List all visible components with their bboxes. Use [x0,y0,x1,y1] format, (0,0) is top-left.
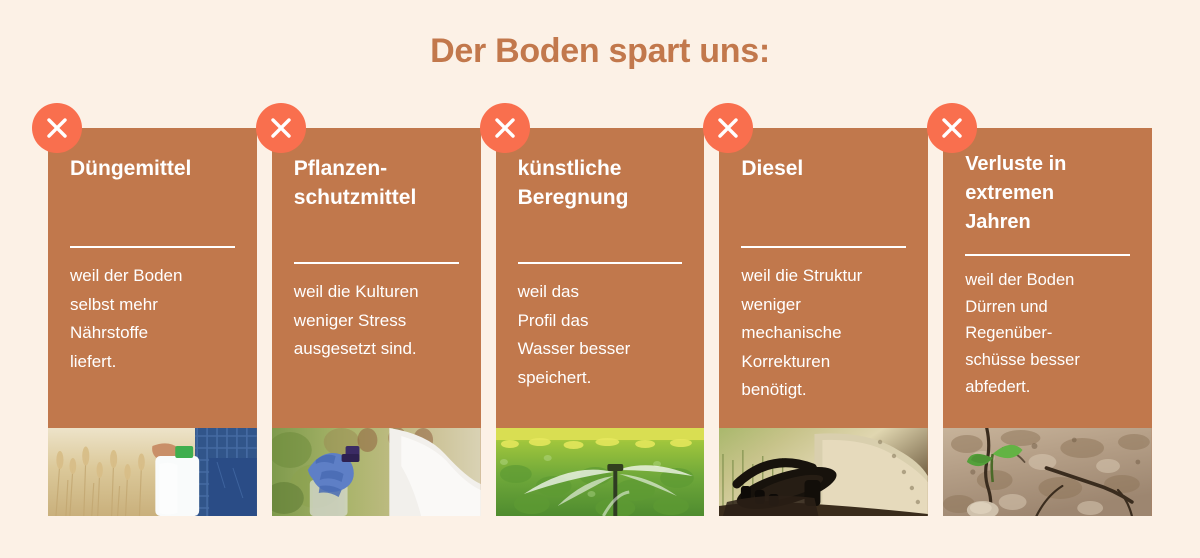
card-title-wrap: Verluste in extremen Jahren [965,150,1130,254]
infographic-root: Der Boden spart uns: Düngemittel weil de… [0,0,1200,558]
card-text: weil der Boden selbst mehr Nährstoffe li… [70,248,235,376]
benefit-card: Düngemittel weil der Boden selbst mehr N… [48,128,257,516]
close-x-icon [480,103,530,153]
card-text: weil der Boden Dürren und Regenüber- sch… [965,256,1130,401]
card-body: Düngemittel weil der Boden selbst mehr N… [48,128,257,428]
photo-seedling-dry-soil [943,428,1152,516]
photo-irrigation-sprinkler [496,428,705,516]
card-list: Düngemittel weil der Boden selbst mehr N… [48,128,1152,516]
close-x-icon [927,103,977,153]
card-body: Pflanzen- schutzmittel weil die Kulturen… [272,128,481,428]
card-title-wrap: Düngemittel [70,154,235,246]
card-title: künstliche Beregnung [518,154,683,213]
card-text: weil das Profil das Wasser besser speich… [518,264,683,392]
card-body: künstliche Beregnung weil das Profil das… [496,128,705,428]
card-title-wrap: Pflanzen- schutzmittel [294,154,459,262]
card-title-wrap: künstliche Beregnung [518,154,683,262]
card-text: weil die Kulturen weniger Stress ausgese… [294,264,459,364]
card-title: Verluste in extremen Jahren [965,150,1130,237]
card-body: Diesel weil die Struktur weniger mechani… [719,128,928,428]
close-x-icon [256,103,306,153]
card-title: Düngemittel [70,154,235,183]
page-title: Der Boden spart uns: [0,32,1200,71]
card-text: weil die Struktur weniger mechanische Ko… [741,248,906,405]
card-title-wrap: Diesel [741,154,906,246]
benefit-card: Verluste in extremen Jahren weil der Bod… [943,128,1152,516]
benefit-card: Pflanzen- schutzmittel weil die Kulturen… [272,128,481,516]
benefit-card: Diesel weil die Struktur weniger mechani… [719,128,928,516]
close-x-icon [32,103,82,153]
photo-pesticide-spray [272,428,481,516]
benefit-card: künstliche Beregnung weil das Profil das… [496,128,705,516]
card-body: Verluste in extremen Jahren weil der Bod… [943,128,1152,428]
photo-fertilizer-jug [48,428,257,516]
photo-tractor-steering-wheel [719,428,928,516]
card-title: Diesel [741,154,906,183]
card-title: Pflanzen- schutzmittel [294,154,459,213]
